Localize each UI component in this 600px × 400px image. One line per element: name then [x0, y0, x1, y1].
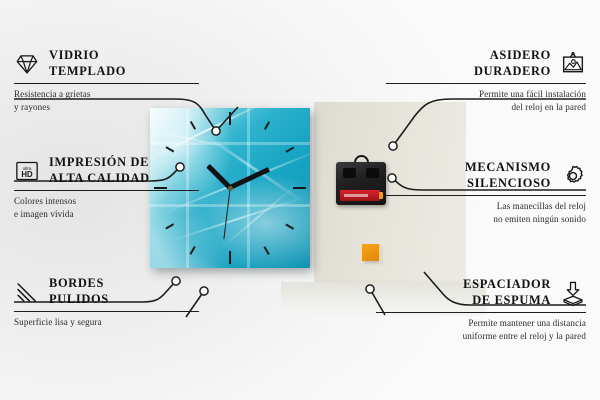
divider [376, 312, 586, 313]
diagonal-lines-icon [14, 279, 40, 305]
foam-spacer [362, 244, 379, 261]
picture-frame-icon [560, 51, 586, 77]
svg-text:HD: HD [21, 170, 33, 179]
feature-callout-impresion-alta-calidad[interactable]: ultra HD IMPRESIÓN DE ALTA CALIDAD Color… [14, 155, 199, 221]
feature-title-line1: ASIDERO [474, 48, 551, 64]
feature-callout-espaciador-espuma[interactable]: ESPACIADOR DE ESPUMA Permite mantener un… [376, 277, 586, 343]
face-gridline [247, 108, 250, 268]
clock-tick [293, 187, 306, 189]
feature-desc-line2: y rayones [14, 101, 199, 114]
feature-callout-asidero-duradero[interactable]: ASIDERO DURADERO Permite una fácil insta… [386, 48, 586, 114]
feature-title-line2: SILENCIOSO [465, 176, 551, 192]
feature-title-line1: BORDES [49, 276, 109, 292]
feature-title-line2: DURADERO [474, 64, 551, 80]
ultra-hd-icon: ultra HD [14, 158, 40, 184]
feature-desc-line1: Superficie lisa y segura [14, 316, 199, 329]
clock-center-pin [228, 186, 233, 191]
feature-title-line1: VIDRIO [49, 48, 126, 64]
feature-desc-line1: Permite mantener una distancia [376, 317, 586, 330]
feature-desc-line1: Colores intensos [14, 195, 199, 208]
feature-desc-line2: no emiten ningún sonido [386, 213, 586, 226]
infographic-canvas: VIDRIO TEMPLADO Resistencia a grietas y … [0, 0, 600, 400]
clock-tick [229, 112, 231, 125]
feature-desc-line2: del reloj en la pared [386, 101, 586, 114]
feature-title-line2: PULIDOS [49, 292, 109, 308]
arrow-down-pad-icon [560, 280, 586, 306]
feature-desc-line1: Permite una fácil instalación [386, 88, 586, 101]
clock-tick [229, 251, 231, 264]
diamond-icon [14, 51, 40, 77]
mechanism-body [336, 162, 386, 205]
feature-desc-line1: Las manecillas del reloj [386, 200, 586, 213]
feature-title-line1: ESPACIADOR [463, 277, 551, 293]
divider [386, 83, 586, 84]
feature-callout-mecanismo-silencioso[interactable]: MECANISMO SILENCIOSO Las manecillas del … [386, 160, 586, 226]
clock-mechanism [336, 162, 386, 205]
feature-title-line1: MECANISMO [465, 160, 551, 176]
divider [386, 195, 586, 196]
battery [340, 190, 380, 201]
feature-title-line2: TEMPLADO [49, 64, 126, 80]
feature-callout-vidrio-templado[interactable]: VIDRIO TEMPLADO Resistencia a grietas y … [14, 48, 199, 114]
feature-desc-line2: e imagen vívida [14, 208, 199, 221]
feature-callout-bordes-pulidos[interactable]: BORDES PULIDOS Superficie lisa y segura [14, 276, 199, 329]
feature-desc-line1: Resistencia a grietas [14, 88, 199, 101]
gear-icon [560, 163, 586, 189]
divider [14, 83, 199, 84]
divider [14, 311, 199, 312]
feature-desc-line2: uniforme entre el reloj y la pared [376, 330, 586, 343]
feature-title-line2: DE ESPUMA [463, 293, 551, 309]
divider [14, 190, 199, 191]
feature-title-line2: ALTA CALIDAD [49, 171, 150, 187]
feature-title-line1: IMPRESIÓN DE [49, 155, 150, 171]
